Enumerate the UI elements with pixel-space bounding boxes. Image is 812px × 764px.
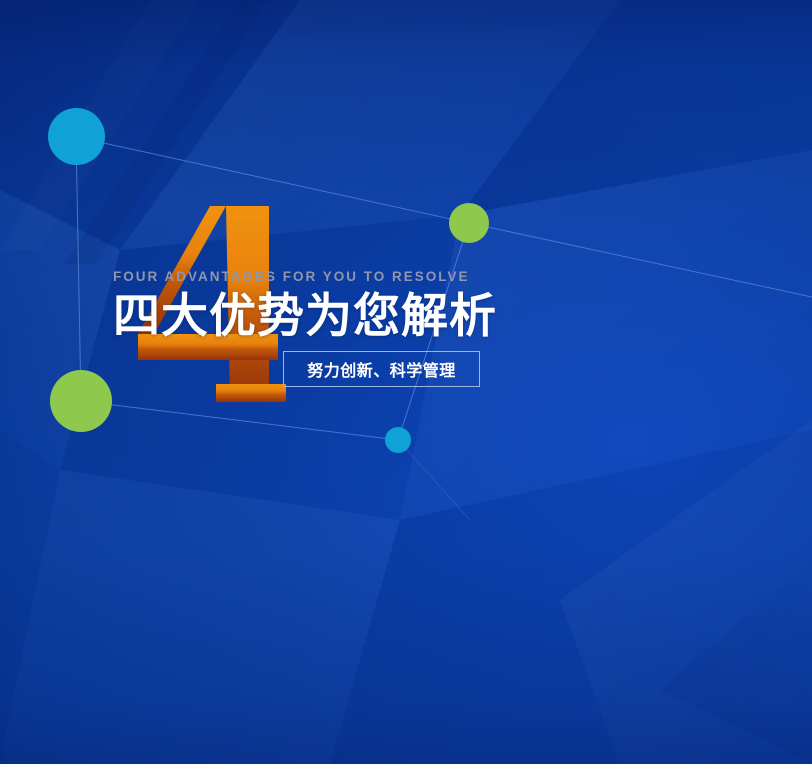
page-title: 四大优势为您解析 — [113, 292, 713, 341]
tagline-badge: 努力创新、科学管理 — [283, 351, 480, 387]
node-circle-cyan-bottom — [385, 427, 411, 453]
tagline-text: 努力创新、科学管理 — [307, 357, 456, 381]
headline-block: FOUR ADVANTAGES FOR YOU TO RESOLVE 四大优势为… — [113, 270, 713, 340]
eyebrow-text: FOUR ADVANTAGES FOR YOU TO RESOLVE — [113, 270, 713, 284]
node-circle-green-right — [449, 203, 489, 243]
node-circle-cyan-top-left — [48, 108, 105, 165]
node-circle-green-bottom-left — [50, 370, 112, 432]
banner-canvas: FOUR ADVANTAGES FOR YOU TO RESOLVE 四大优势为… — [0, 0, 812, 764]
